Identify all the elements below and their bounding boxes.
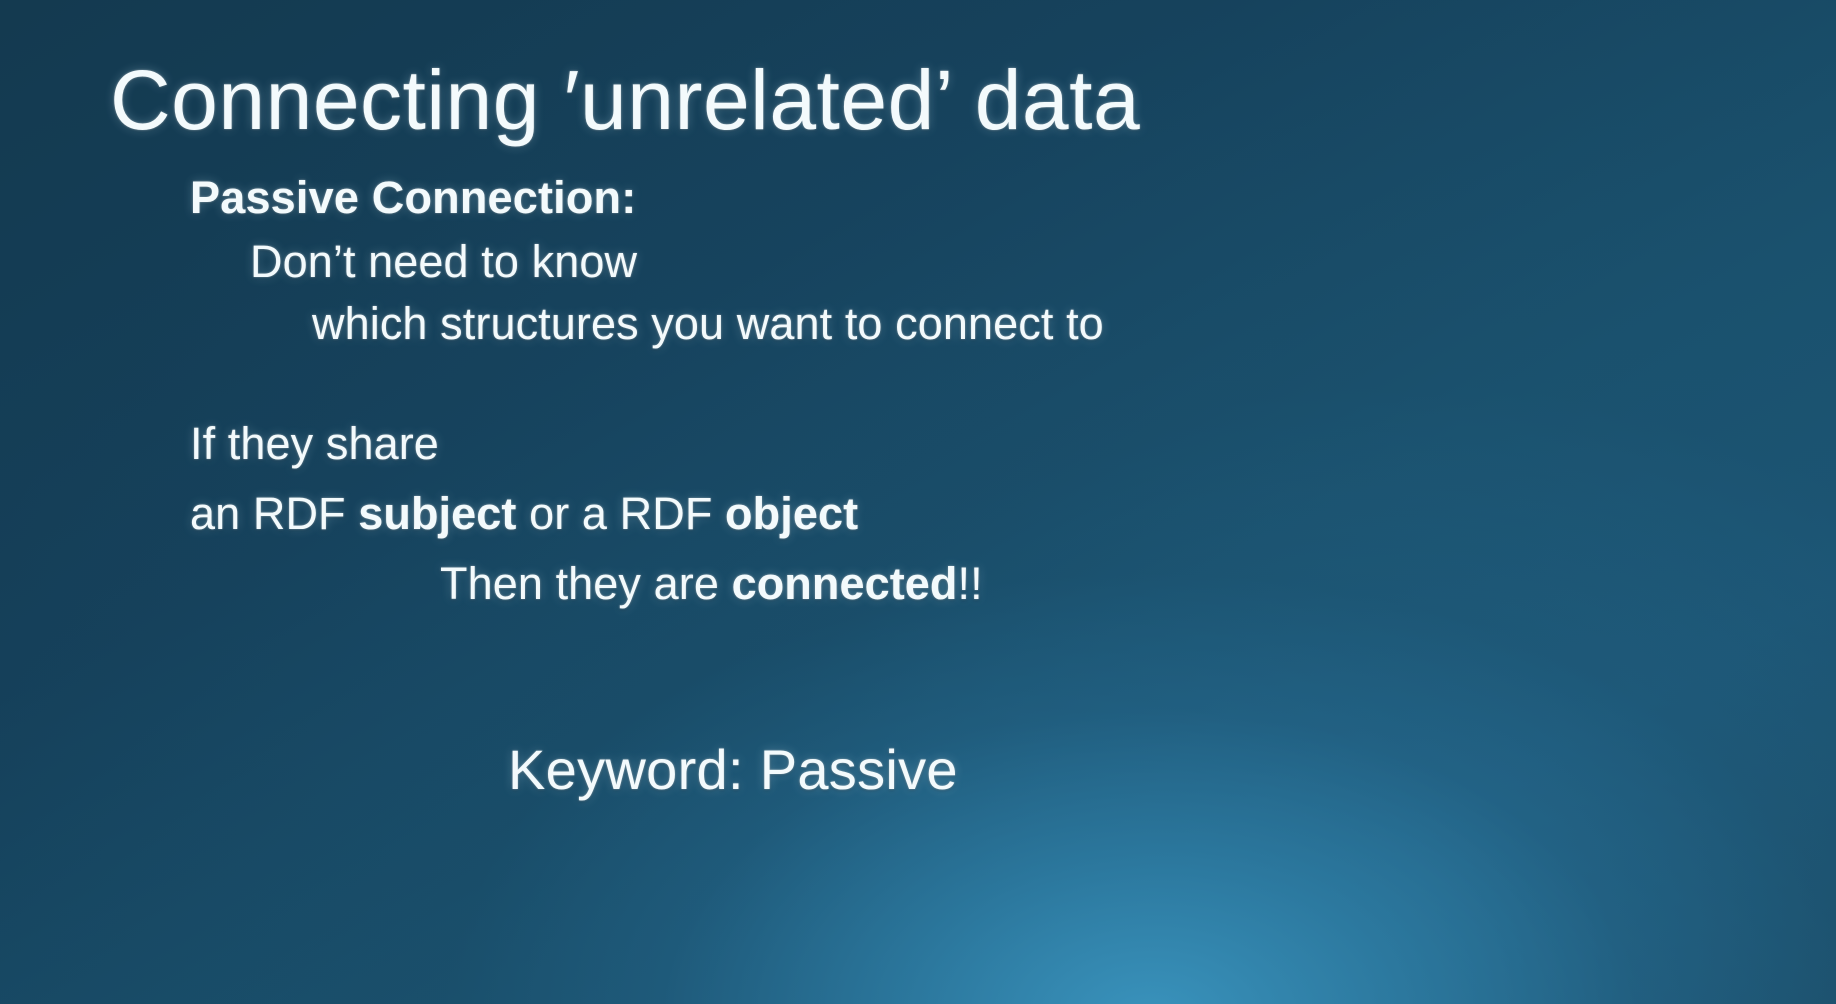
slide-canvas: Connecting ′unrelated’ data Passive Conn… (0, 0, 1836, 1004)
then-line-bold-connected: connected (732, 558, 958, 609)
rdf-line-bold-subject: subject (358, 488, 516, 539)
passive-connection-heading: Passive Connection: (190, 174, 636, 223)
bullet-if-they-share: If they share (190, 420, 439, 469)
rdf-line-text-1: an RDF (190, 488, 358, 539)
then-line-text-2: !! (958, 558, 983, 609)
keyword-footer: Keyword: Passive (508, 740, 958, 799)
slide-text-layer: Connecting ′unrelated’ data Passive Conn… (0, 0, 1836, 1004)
slide-title: Connecting ′unrelated’ data (110, 56, 1140, 145)
rdf-line-bold-object: object (725, 488, 858, 539)
bullet-which-structures: which structures you want to connect to (312, 300, 1104, 349)
then-line-text-1: Then they are (440, 558, 732, 609)
rdf-line-text-2: or a RDF (517, 488, 726, 539)
bullet-rdf-subject-or-object: an RDF subject or a RDF object (190, 490, 858, 539)
bullet-then-they-are-connected: Then they are connected!! (440, 560, 983, 609)
bullet-dont-need-to-know: Don’t need to know (250, 238, 637, 287)
